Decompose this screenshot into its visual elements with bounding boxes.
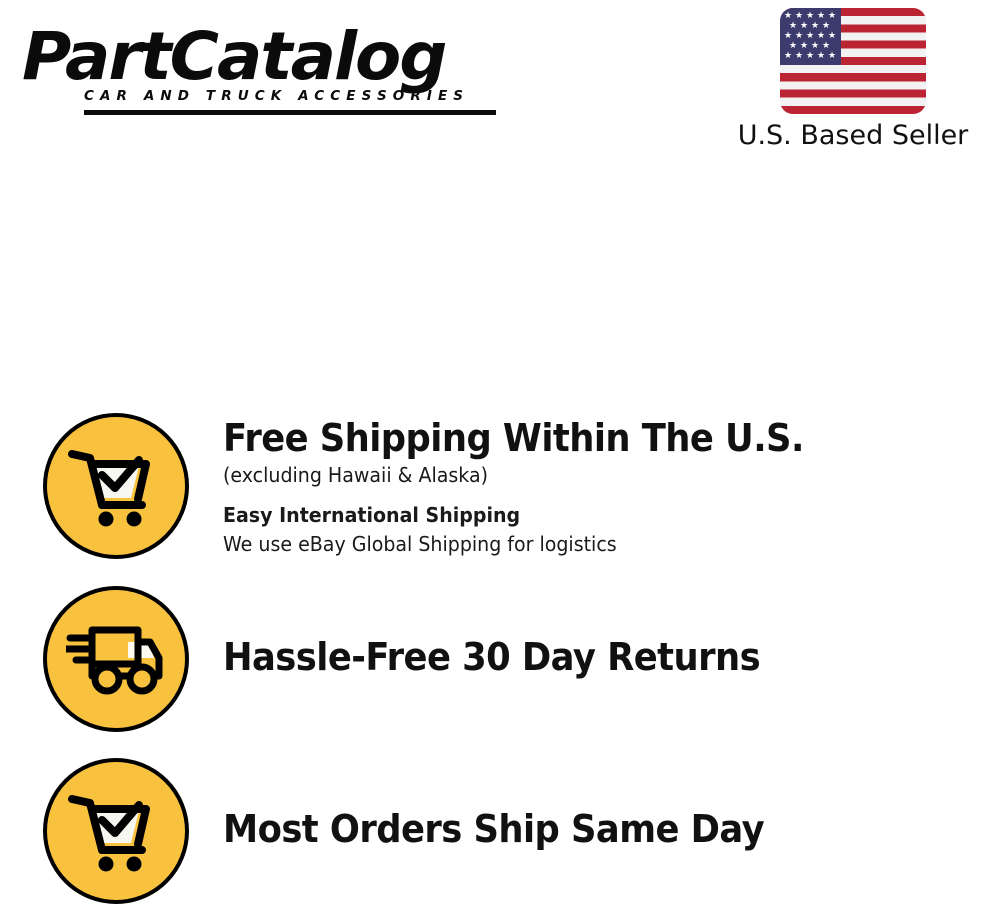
feature-sub-detail: We use eBay Global Shipping for logistic…: [223, 530, 961, 559]
page-header: PartCatalog CAR AND TRUCK ACCESSORIES ★ …: [0, 0, 1000, 170]
flag-stars: ★ ★ ★ ★ ★ ★ ★ ★ ★ ★ ★ ★ ★ ★ ★ ★ ★ ★ ★ ★: [780, 8, 841, 65]
us-flag-icon: ★ ★ ★ ★ ★ ★ ★ ★ ★ ★ ★ ★ ★ ★ ★ ★ ★ ★ ★ ★: [780, 8, 926, 114]
feature-sub-note: (excluding Hawaii & Alaska): [223, 461, 961, 490]
feature-item-returns: Hassle-Free 30 Day Returns: [0, 586, 1000, 732]
seller-badge-label: U.S. Based Seller: [718, 120, 988, 151]
us-based-seller-badge: ★ ★ ★ ★ ★ ★ ★ ★ ★ ★ ★ ★ ★ ★ ★ ★ ★ ★ ★ ★: [718, 8, 988, 151]
feature-text-block: Most Orders Ship Same Day: [189, 758, 1000, 852]
feature-item-free-shipping: Free Shipping Within The U.S. (excluding…: [0, 413, 1000, 559]
feature-title: Most Orders Ship Same Day: [223, 806, 946, 852]
shopping-cart-check-icon: [43, 758, 189, 904]
feature-title: Hassle-Free 30 Day Returns: [223, 634, 946, 680]
feature-title: Free Shipping Within The U.S.: [223, 415, 946, 461]
brand-logo[interactable]: PartCatalog CAR AND TRUCK ACCESSORIES: [22, 22, 492, 112]
feature-sub-heading: Easy International Shipping: [223, 501, 961, 530]
shopping-cart-check-icon: [43, 413, 189, 559]
brand-underline-rule: [84, 110, 496, 115]
feature-text-block: Hassle-Free 30 Day Returns: [189, 586, 1000, 680]
feature-text-block: Free Shipping Within The U.S. (excluding…: [189, 413, 1000, 559]
feature-item-same-day-ship: Most Orders Ship Same Day: [0, 758, 1000, 904]
delivery-truck-icon: [43, 586, 189, 732]
brand-wordmark: PartCatalog: [22, 22, 501, 92]
